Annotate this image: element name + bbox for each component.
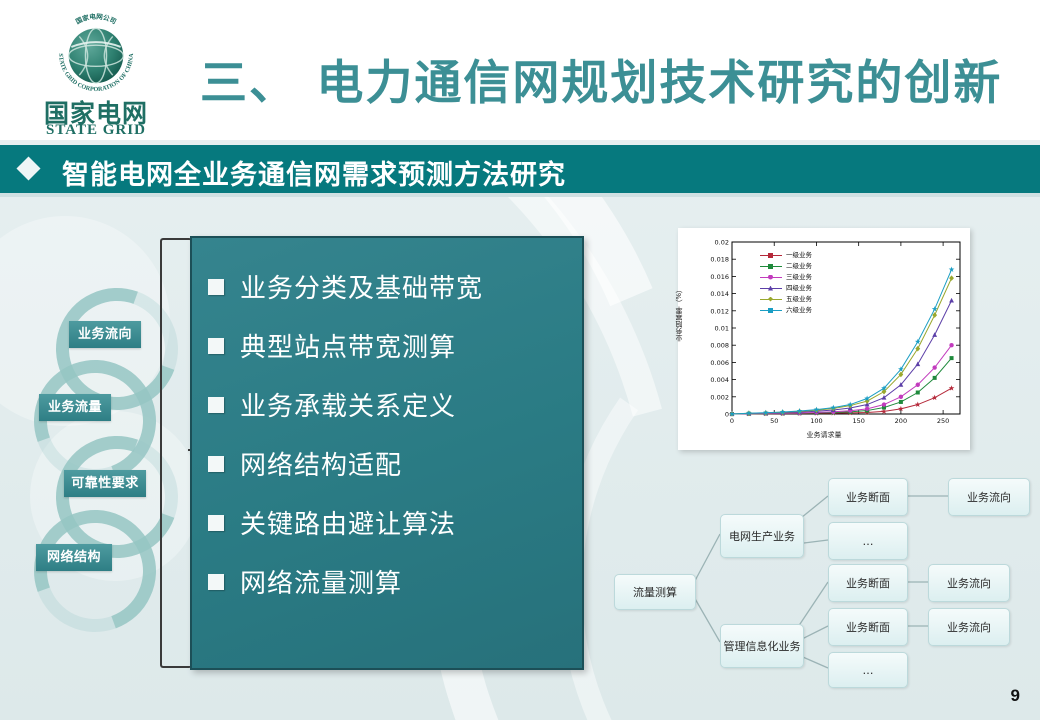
svg-text:200: 200 — [895, 417, 907, 425]
bullet-text: 业务分类及基础带宽 — [240, 268, 483, 305]
tree-child-node: 业务断面 — [828, 608, 908, 646]
legend-item: 二级业务 — [760, 261, 812, 272]
svg-text:0.002: 0.002 — [710, 393, 729, 401]
legend-swatch — [760, 266, 782, 267]
square-bullet-icon — [208, 338, 224, 354]
tree-child-node-ellipsis: … — [828, 522, 908, 560]
page-title: 三、 电力通信网规划技术研究的创新 — [200, 44, 1030, 113]
svg-text:0: 0 — [730, 417, 734, 425]
legend-swatch — [760, 299, 782, 300]
legend-swatch — [760, 288, 782, 289]
diamond-bullet-icon — [16, 156, 40, 180]
chart-y-axis-label: 业务阻塞率（%） — [674, 286, 688, 342]
square-bullet-icon — [208, 574, 224, 590]
svg-text:100: 100 — [810, 417, 822, 425]
legend-swatch — [760, 277, 782, 278]
svg-text:50: 50 — [770, 417, 778, 425]
logo-english-name: STATE GRID — [22, 122, 170, 139]
svg-text:150: 150 — [852, 417, 864, 425]
cycle-label-3: 可靠性要求 — [64, 470, 146, 497]
blocking-rate-chart: 业务阻塞率（%） 业务请求量 00.0020.0040.0060.0080.01… — [678, 228, 970, 450]
square-bullet-icon — [208, 279, 224, 295]
legend-label: 一级业务 — [786, 250, 812, 261]
svg-text:0: 0 — [725, 411, 729, 419]
legend-item: 五级业务 — [760, 294, 812, 305]
svg-text:0.02: 0.02 — [715, 239, 729, 247]
bullet-text: 网络流量测算 — [240, 563, 402, 600]
legend-label: 五级业务 — [786, 294, 812, 305]
bullet-text: 关键路由避让算法 — [240, 504, 456, 541]
legend-item: 六级业务 — [760, 305, 812, 316]
section-bar-underline — [0, 193, 1040, 197]
section-title: 智能电网全业务通信网需求预测方法研究 — [62, 153, 566, 192]
tree-branch-node-2: 管理信息化业务 — [720, 624, 804, 668]
page-number: 9 — [1011, 686, 1020, 706]
legend-label: 四级业务 — [786, 283, 812, 294]
svg-text:0.012: 0.012 — [710, 307, 729, 315]
tree-child-node-ellipsis: … — [828, 652, 908, 688]
svg-text:0.006: 0.006 — [710, 359, 729, 367]
square-bullet-icon — [208, 456, 224, 472]
tree-leaf-node: 业务流向 — [928, 564, 1010, 602]
legend-item: 一级业务 — [760, 250, 812, 261]
chart-plot-area: 00.0020.0040.0060.0080.010.0120.0140.016… — [678, 228, 970, 450]
svg-text:国家电网公司: 国家电网公司 — [74, 12, 118, 26]
bullet-text: 网络结构适配 — [240, 445, 402, 482]
svg-text:0.008: 0.008 — [710, 342, 729, 350]
flow-calculation-tree: 流量测算 电网生产业务 管理信息化业务 业务断面 … 业务断面 业务断面 … 业… — [600, 462, 1040, 682]
svg-text:0.01: 0.01 — [715, 325, 729, 333]
tree-leaf-node: 业务流向 — [948, 478, 1030, 516]
slide-canvas: 国家电网公司 STATE GRID CORPORATION OF CHINA 国… — [0, 0, 1040, 720]
svg-text:250: 250 — [937, 417, 949, 425]
cycle-label-2: 业务流量 — [39, 394, 111, 421]
legend-item: 三级业务 — [760, 272, 812, 283]
state-grid-logo: 国家电网公司 STATE GRID CORPORATION OF CHINA 国… — [22, 8, 170, 136]
tree-branch-node-1: 电网生产业务 — [720, 514, 804, 558]
svg-text:0.004: 0.004 — [710, 376, 729, 384]
svg-text:0.018: 0.018 — [710, 256, 729, 264]
bullet-text: 典型站点带宽测算 — [240, 327, 456, 364]
cycle-label-4: 网络结构 — [36, 544, 112, 571]
list-item: 业务分类及基础带宽 — [208, 268, 568, 305]
cycle-label-1: 业务流向 — [69, 321, 141, 348]
chart-legend: 一级业务二级业务三级业务四级业务五级业务六级业务 — [760, 250, 812, 316]
tree-root-node: 流量测算 — [614, 574, 696, 610]
svg-text:0.014: 0.014 — [710, 290, 729, 298]
legend-label: 二级业务 — [786, 261, 812, 272]
legend-item: 四级业务 — [760, 283, 812, 294]
legend-swatch — [760, 310, 782, 311]
svg-text:0.016: 0.016 — [710, 273, 729, 281]
tree-child-node: 业务断面 — [828, 564, 908, 602]
list-item: 典型站点带宽测算 — [208, 327, 568, 364]
legend-swatch — [760, 255, 782, 256]
list-item: 网络流量测算 — [208, 563, 568, 600]
bullet-list: 业务分类及基础带宽 典型站点带宽测算 业务承载关系定义 网络结构适配 关键路由避… — [208, 268, 568, 622]
list-item: 网络结构适配 — [208, 445, 568, 482]
bullet-text: 业务承载关系定义 — [240, 386, 456, 423]
grouping-bracket — [160, 238, 192, 668]
section-header-bar: 智能电网全业务通信网需求预测方法研究 — [0, 145, 1040, 193]
square-bullet-icon — [208, 515, 224, 531]
list-item: 业务承载关系定义 — [208, 386, 568, 423]
state-grid-emblem-icon: 国家电网公司 STATE GRID CORPORATION OF CHINA — [52, 10, 140, 98]
cycle-diagram: 业务流向 业务流量 可靠性要求 网络结构 — [34, 288, 170, 624]
tree-leaf-node: 业务流向 — [928, 608, 1010, 646]
list-item: 关键路由避让算法 — [208, 504, 568, 541]
content-panel: 业务分类及基础带宽 典型站点带宽测算 业务承载关系定义 网络结构适配 关键路由避… — [190, 236, 584, 670]
legend-label: 三级业务 — [786, 272, 812, 283]
square-bullet-icon — [208, 397, 224, 413]
chart-x-axis-label: 业务请求量 — [678, 430, 970, 440]
legend-label: 六级业务 — [786, 305, 812, 316]
tree-child-node: 业务断面 — [828, 478, 908, 516]
